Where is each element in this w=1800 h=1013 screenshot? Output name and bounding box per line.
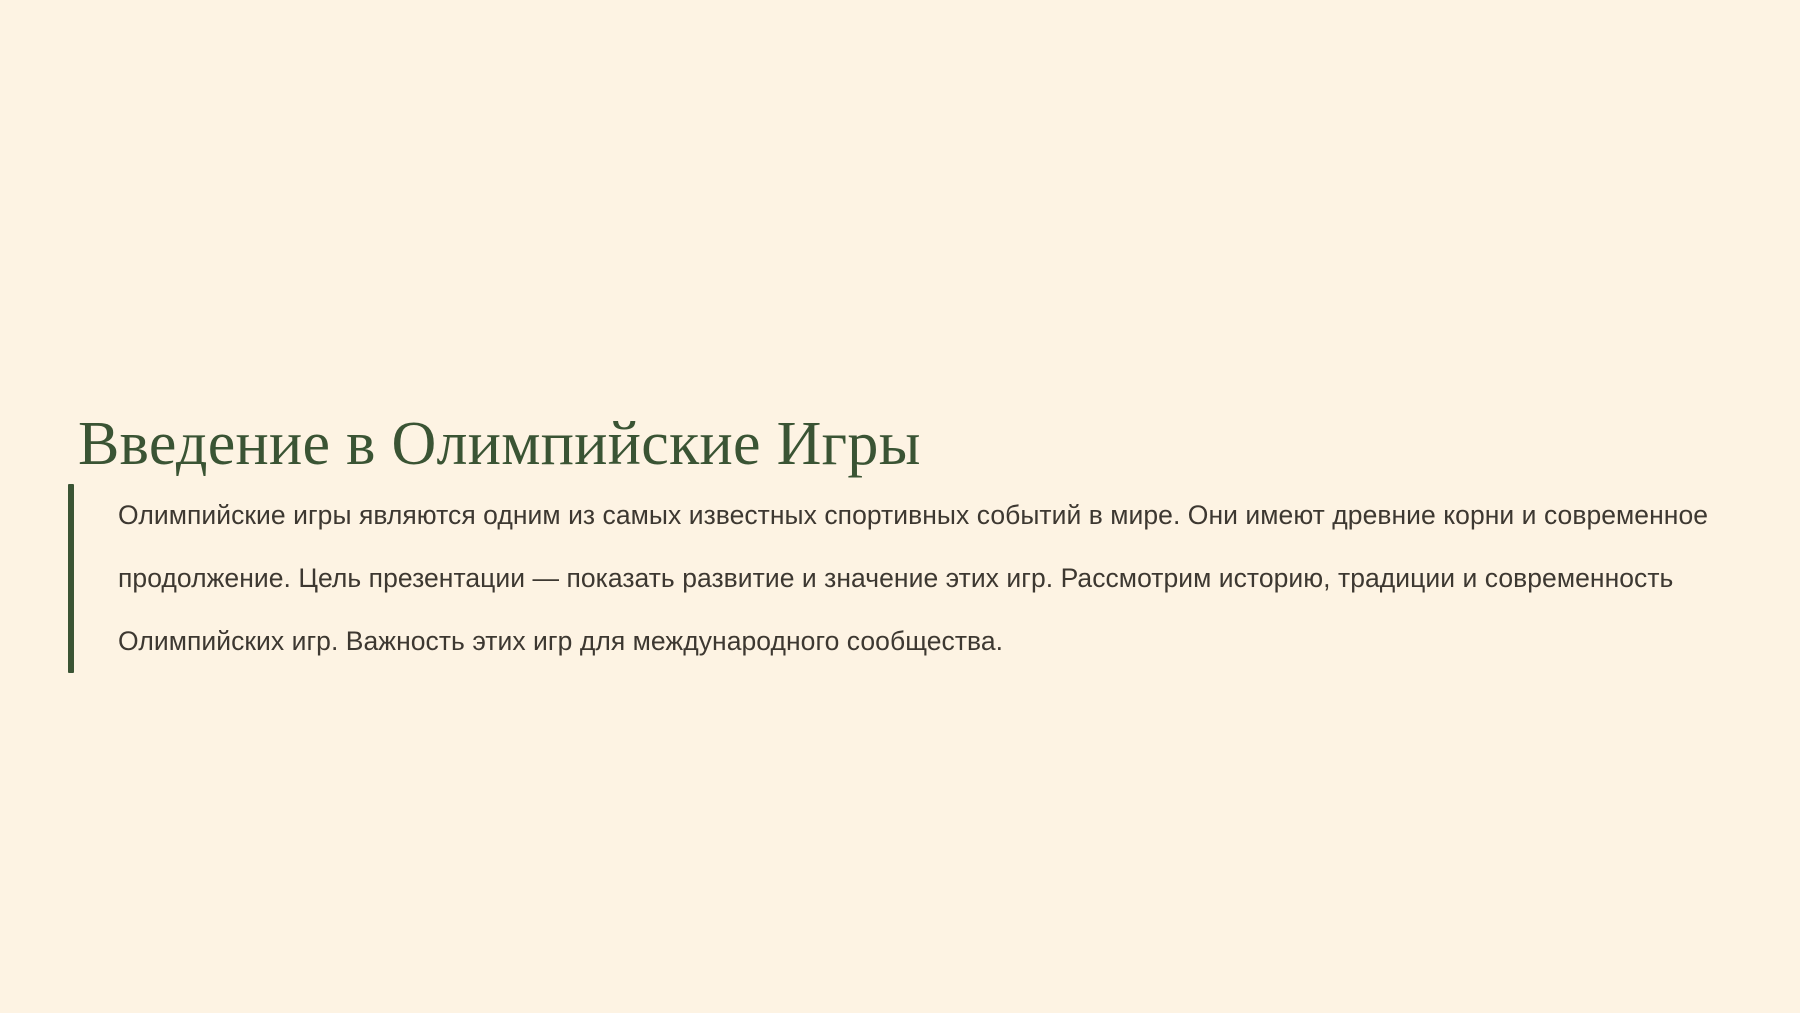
slide-title: Введение в Олимпийские Игры: [78, 410, 1678, 479]
body-content-block: Олимпийские игры являются одним из самых…: [68, 484, 1728, 673]
slide-body-paragraph: Олимпийские игры являются одним из самых…: [74, 484, 1728, 673]
presentation-slide: Введение в Олимпийские Игры Олимпийские …: [0, 0, 1800, 1013]
